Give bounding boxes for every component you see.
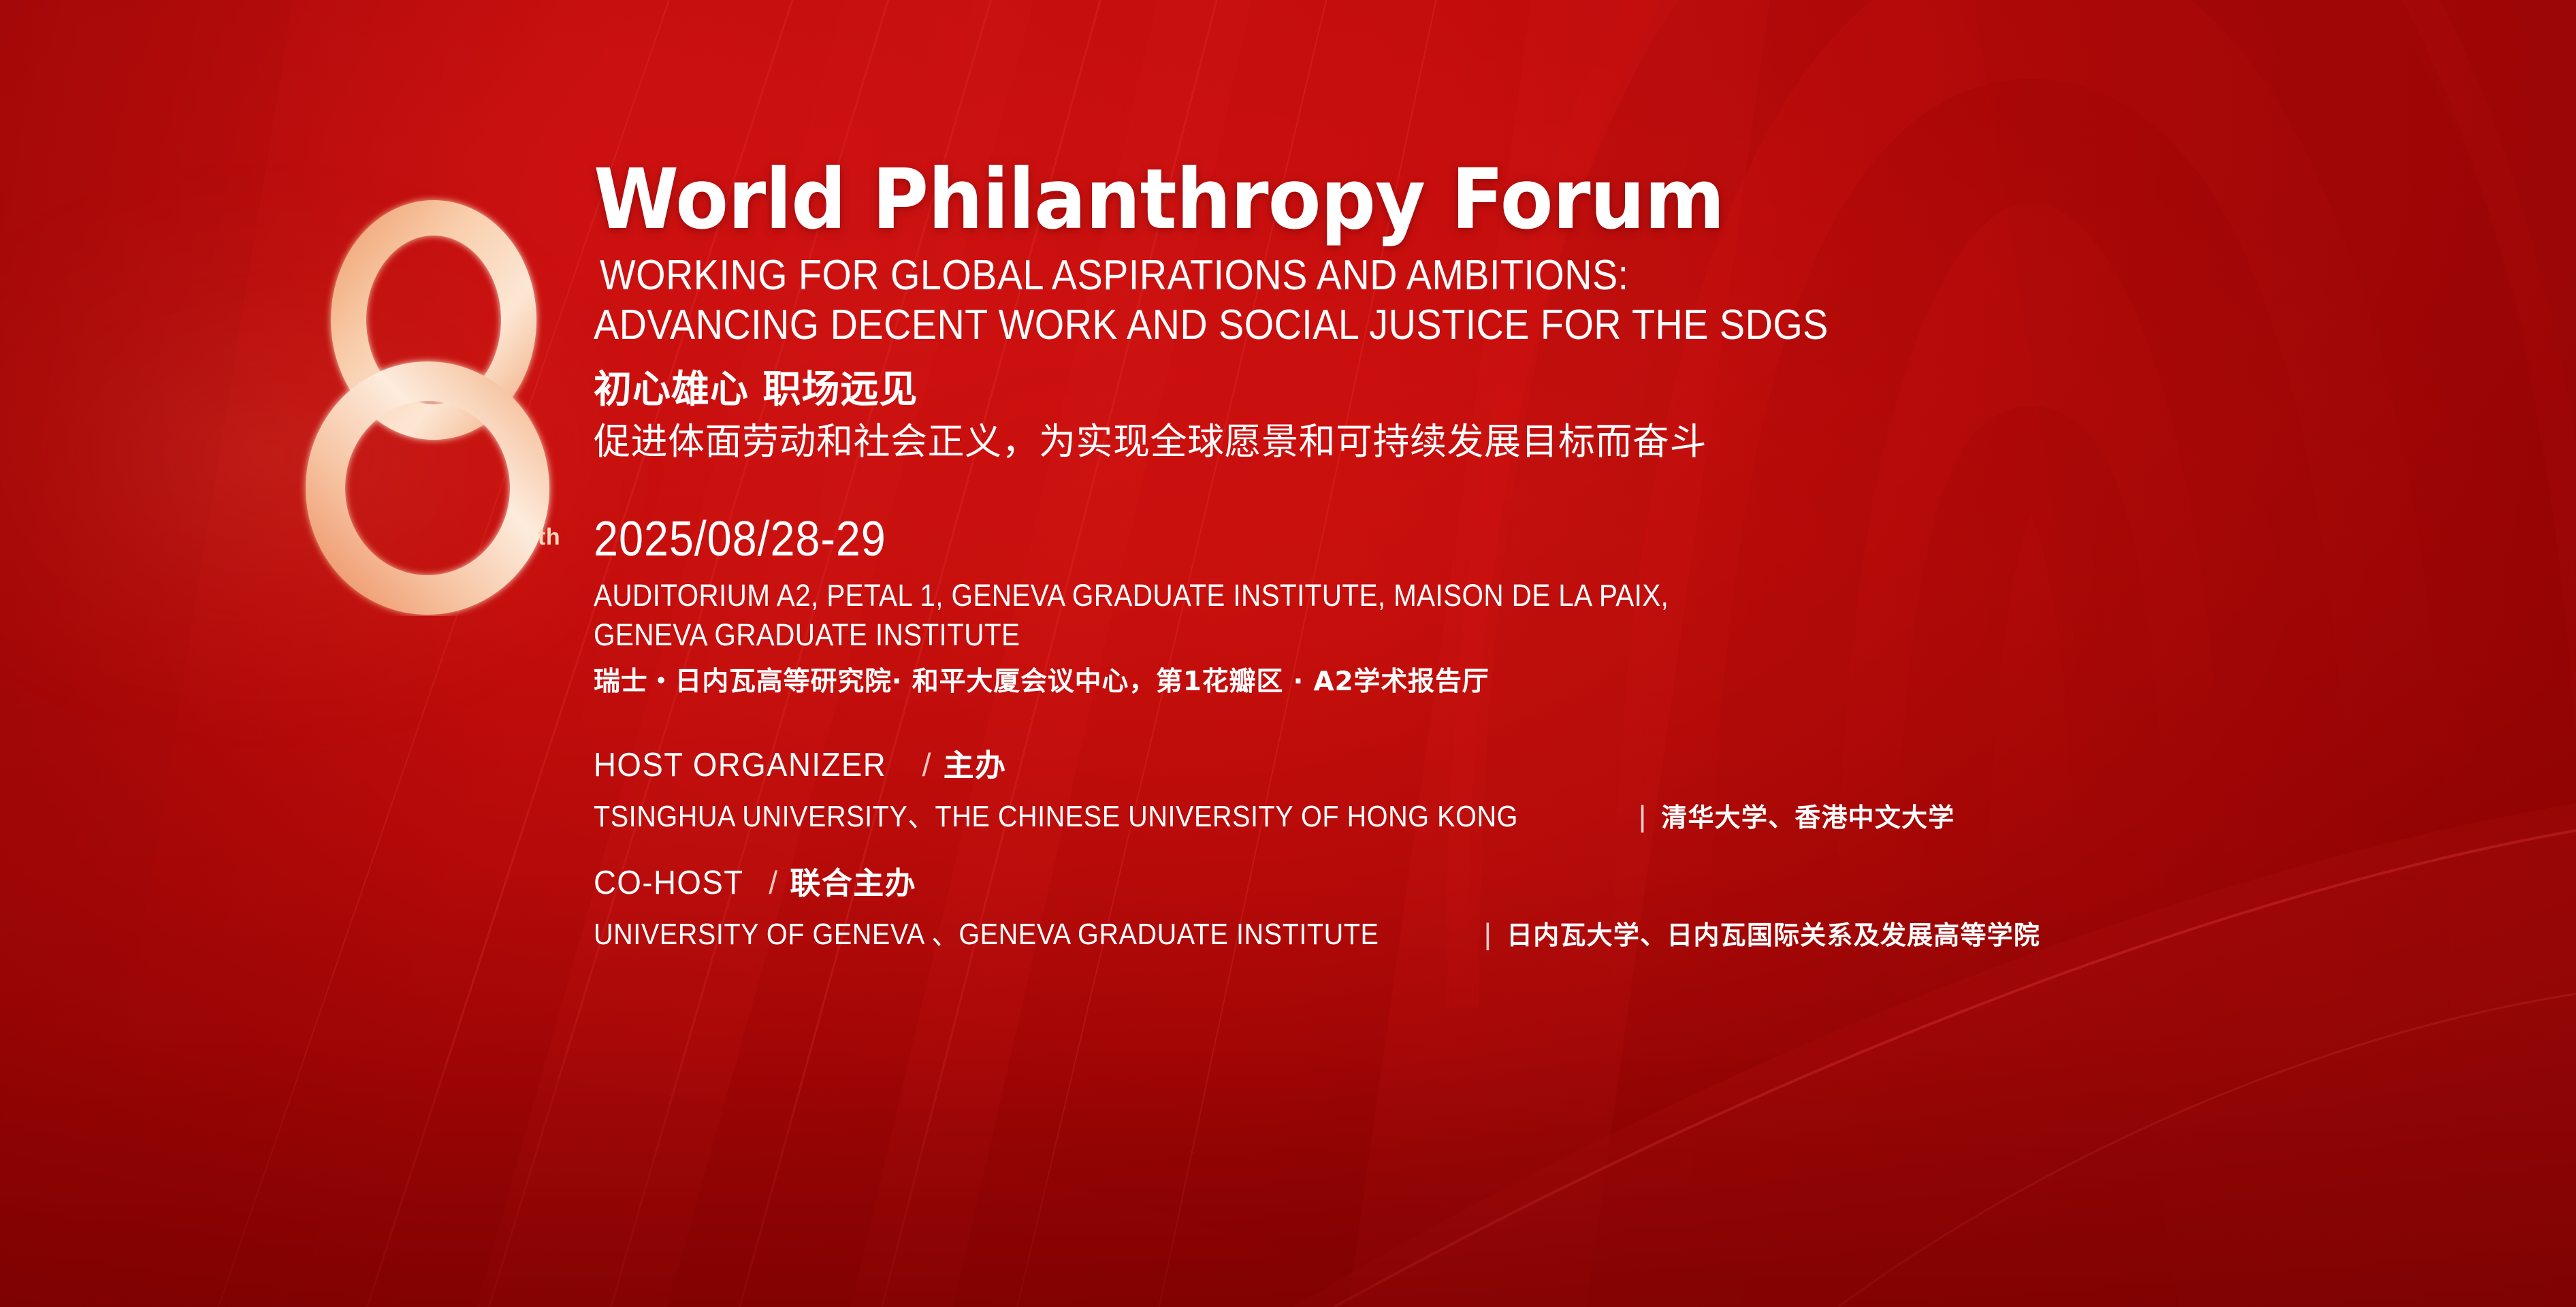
venue-en-line-1: AUDITORIUM A2, PETAL 1, GENEVA GRADUATE … [594,576,2248,615]
venue-english: AUDITORIUM A2, PETAL 1, GENEVA GRADUATE … [594,576,2248,654]
host-organizer-label: HOST ORGANIZER / 主办 [594,741,2432,785]
co-host-label-en: CO-HOST [594,864,744,902]
co-host-names-en: UNIVERSITY OF GENEVA 、GENEVA GRADUATE IN… [594,909,1379,953]
event-poster: th World Philanthropy Forum WORKING FOR … [0,0,2576,1307]
co-host-block: CO-HOST / 联合主办 UNIVERSITY OF GENEVA 、GEN… [594,858,2432,953]
theme-headline-cn: 初心雄心 职场远见 [594,366,2432,414]
host-organizer-names-divider: | [1639,800,1646,834]
forum-subtitle: WORKING FOR GLOBAL ASPIRATIONS AND AMBIT… [594,251,2248,350]
co-host-label: CO-HOST / 联合主办 [594,858,2432,903]
edition-ordinal-suffix: th [538,524,560,551]
venue-chinese: 瑞士・日内瓦高等研究院· 和平大厦会议中心，第1花瓣区 · A2学术报告厅 [594,665,2432,700]
co-host-names: UNIVERSITY OF GENEVA 、GENEVA GRADUATE IN… [594,909,2432,953]
host-organizer-names-en: TSINGHUA UNIVERSITY、THE CHINESE UNIVERSI… [594,792,1518,835]
co-host-label-cn: 联合主办 [790,858,916,903]
host-organizer-label-en: HOST ORGANIZER [594,746,886,784]
theme-subline-cn: 促进体面劳动和社会正义，为实现全球愿景和可持续发展目标而奋斗 [594,418,2432,466]
subtitle-line-1: WORKING FOR GLOBAL ASPIRATIONS AND AMBIT… [594,251,2248,300]
co-host-names-divider: | [1484,918,1492,952]
host-organizer-names: TSINGHUA UNIVERSITY、THE CHINESE UNIVERSI… [594,792,2432,835]
forum-title: World Philanthropy Forum [594,158,2303,241]
co-host-label-separator: / [769,864,777,901]
host-organizer-block: HOST ORGANIZER / 主办 TSINGHUA UNIVERSITY、… [594,741,2432,835]
host-organizer-label-cn: 主办 [944,741,1007,785]
host-organizer-label-separator: / [922,746,931,784]
event-date: 2025/08/28-29 [594,514,2248,566]
edition-numeral-8 [265,194,592,616]
host-organizer-names-cn: 清华大学、香港中文大学 [1661,796,1954,834]
poster-content: World Philanthropy Forum WORKING FOR GLO… [594,158,2432,953]
co-host-names-cn: 日内瓦大学、日内瓦国际关系及发展高等学院 [1507,914,2040,952]
venue-en-line-2: GENEVA GRADUATE INSTITUTE [594,615,2248,655]
subtitle-line-2: ADVANCING DECENT WORK AND SOCIAL JUSTICE… [594,300,2248,350]
